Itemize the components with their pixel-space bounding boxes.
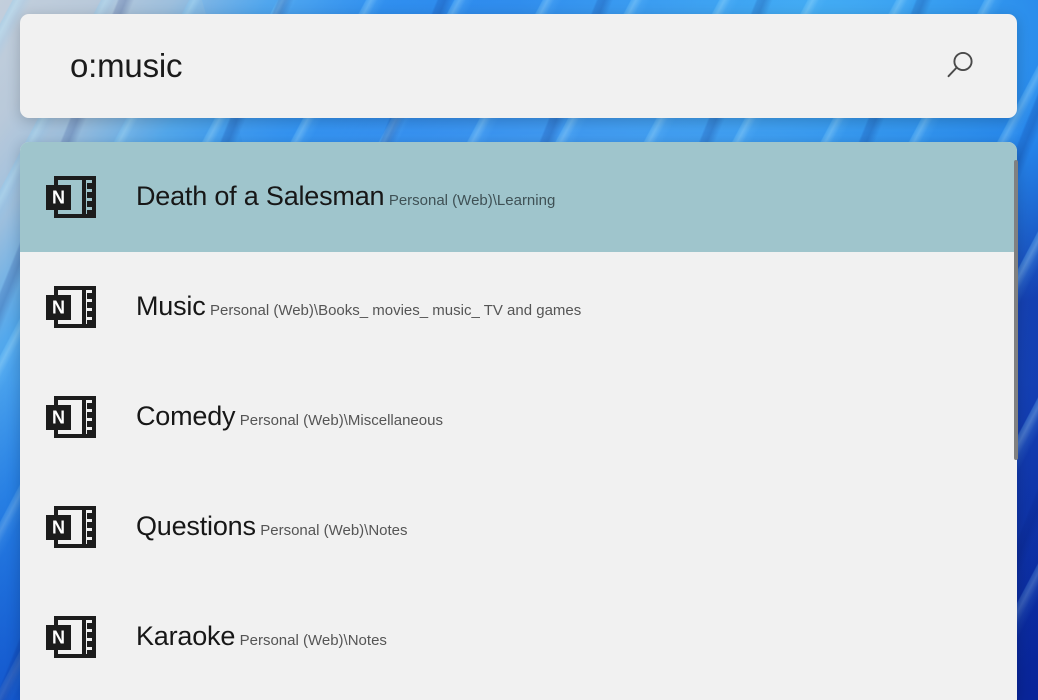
search-result-text: Comedy Personal (Web)\Miscellaneous	[112, 401, 1017, 433]
search-result-title: Music	[136, 291, 206, 321]
search-result-row-2[interactable]: N Comedy Personal (Web)\Miscellaneous	[20, 362, 1017, 472]
search-result-title: Comedy	[136, 401, 235, 431]
svg-text:N: N	[52, 298, 65, 318]
results-scrollbar-thumb[interactable]	[1014, 160, 1018, 460]
search-result-title: Questions	[136, 511, 256, 541]
search-result-subtitle: Personal (Web)\Notes	[260, 522, 407, 539]
search-result-subtitle: Personal (Web)\Learning	[389, 192, 555, 209]
onenote-icon: N	[44, 395, 112, 439]
onenote-icon: N	[44, 505, 112, 549]
search-result-title: Karaoke	[136, 621, 235, 651]
search-results-list: N Death of a Salesman Personal (Web)\Lea…	[20, 142, 1017, 700]
search-result-text: Death of a Salesman Personal (Web)\Learn…	[112, 181, 1017, 213]
onenote-icon: N	[44, 285, 112, 329]
search-result-subtitle: Personal (Web)\Notes	[240, 632, 387, 649]
onenote-icon: N	[44, 175, 112, 219]
search-result-title: Death of a Salesman	[136, 181, 384, 211]
results-scrollbar[interactable]	[1014, 142, 1019, 700]
onenote-icon: N	[44, 615, 112, 659]
search-result-text: Music Personal (Web)\Books_ movies_ musi…	[112, 291, 1017, 323]
search-result-subtitle: Personal (Web)\Books_ movies_ music_ TV …	[210, 302, 581, 319]
search-bar[interactable]	[20, 14, 1017, 118]
search-result-row-0[interactable]: N Death of a Salesman Personal (Web)\Lea…	[20, 142, 1017, 252]
search-result-text: Karaoke Personal (Web)\Notes	[112, 621, 1017, 653]
search-result-text: Questions Personal (Web)\Notes	[112, 511, 1017, 543]
search-result-subtitle: Personal (Web)\Miscellaneous	[240, 412, 443, 429]
search-icon	[939, 46, 979, 86]
search-button[interactable]	[933, 40, 985, 92]
svg-text:N: N	[52, 408, 65, 428]
search-input[interactable]	[70, 47, 933, 85]
search-result-row-4[interactable]: N Karaoke Personal (Web)\Notes	[20, 582, 1017, 692]
desktop-background: N Death of a Salesman Personal (Web)\Lea…	[0, 0, 1038, 700]
search-results-panel: N Death of a Salesman Personal (Web)\Lea…	[20, 142, 1017, 700]
svg-text:N: N	[52, 188, 65, 208]
search-result-row-3[interactable]: N Questions Personal (Web)\Notes	[20, 472, 1017, 582]
search-result-row-1[interactable]: N Music Personal (Web)\Books_ movies_ mu…	[20, 252, 1017, 362]
svg-text:N: N	[52, 628, 65, 648]
svg-text:N: N	[52, 518, 65, 538]
